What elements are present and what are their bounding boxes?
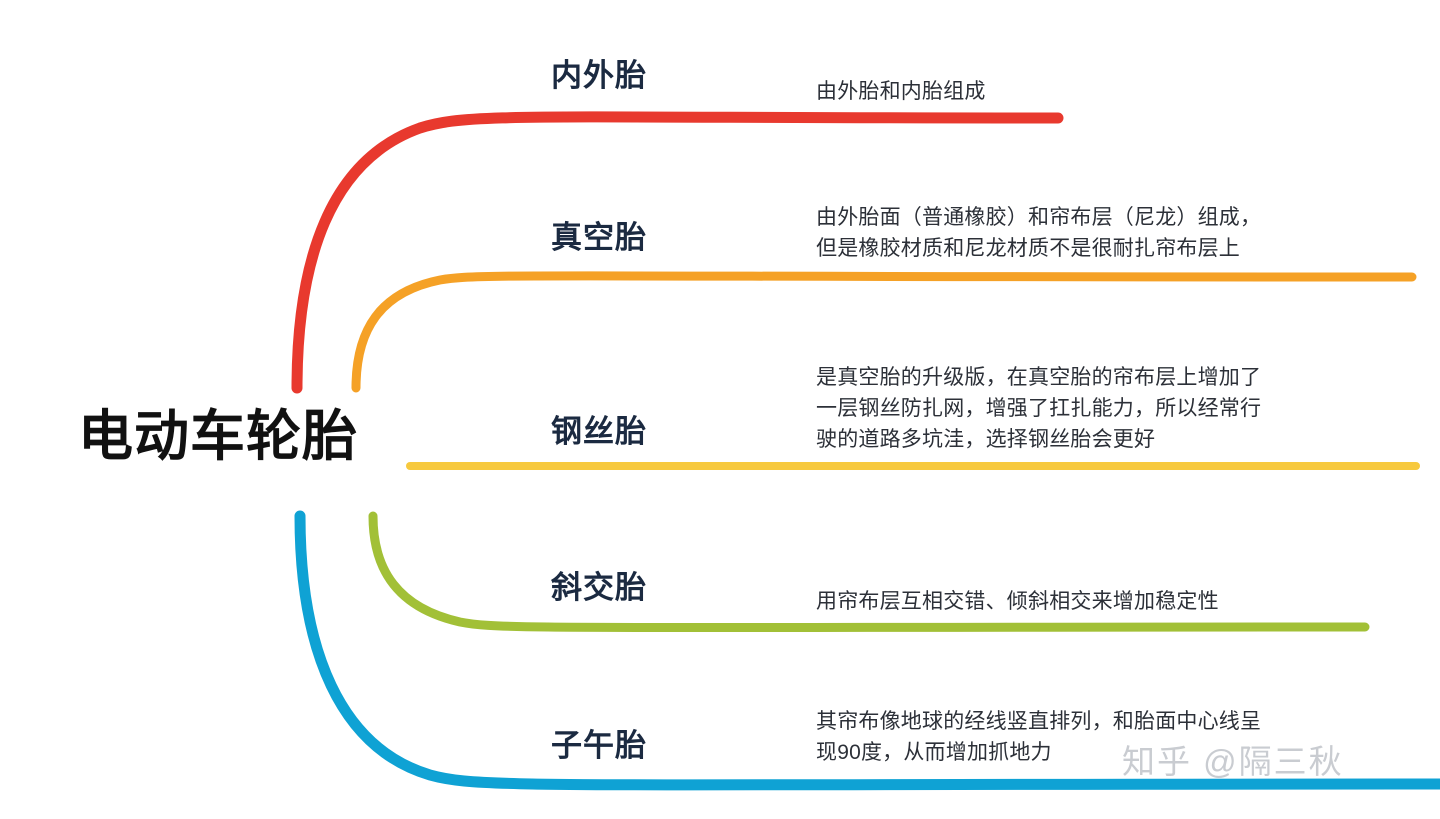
mindmap-canvas: 电动车轮胎 内外胎 由外胎和内胎组成 真空胎 由外胎面（普通橡胶）和帘布层（尼龙… xyxy=(0,0,1440,819)
node-label-bias-ply-tire[interactable]: 斜交胎 xyxy=(551,562,647,607)
node-description-bias-ply-tire: 用帘布层互相交错、倾斜相交来增加稳定性 xyxy=(816,586,1416,617)
node-description-inner-outer-tire: 由外胎和内胎组成 xyxy=(816,76,1376,107)
watermark-text: 知乎 @隔三秋 xyxy=(1122,735,1344,783)
node-description-tubeless-tire: 由外胎面（普通橡胶）和帘布层（尼龙）组成， 但是橡胶材质和尼龙材质不是很耐扎帘布… xyxy=(816,202,1416,264)
node-label-radial-tire[interactable]: 子午胎 xyxy=(551,720,647,765)
node-description-steel-wire-tire: 是真空胎的升级版，在真空胎的帘布层上增加了 一层钢丝防扎网，增强了扛扎能力，所以… xyxy=(816,362,1416,455)
root-node-label: 电动车轮胎 xyxy=(78,406,358,467)
node-label-inner-outer-tire[interactable]: 内外胎 xyxy=(551,50,647,95)
node-label-tubeless-tire[interactable]: 真空胎 xyxy=(551,212,647,257)
node-label-steel-wire-tire[interactable]: 钢丝胎 xyxy=(551,406,647,451)
